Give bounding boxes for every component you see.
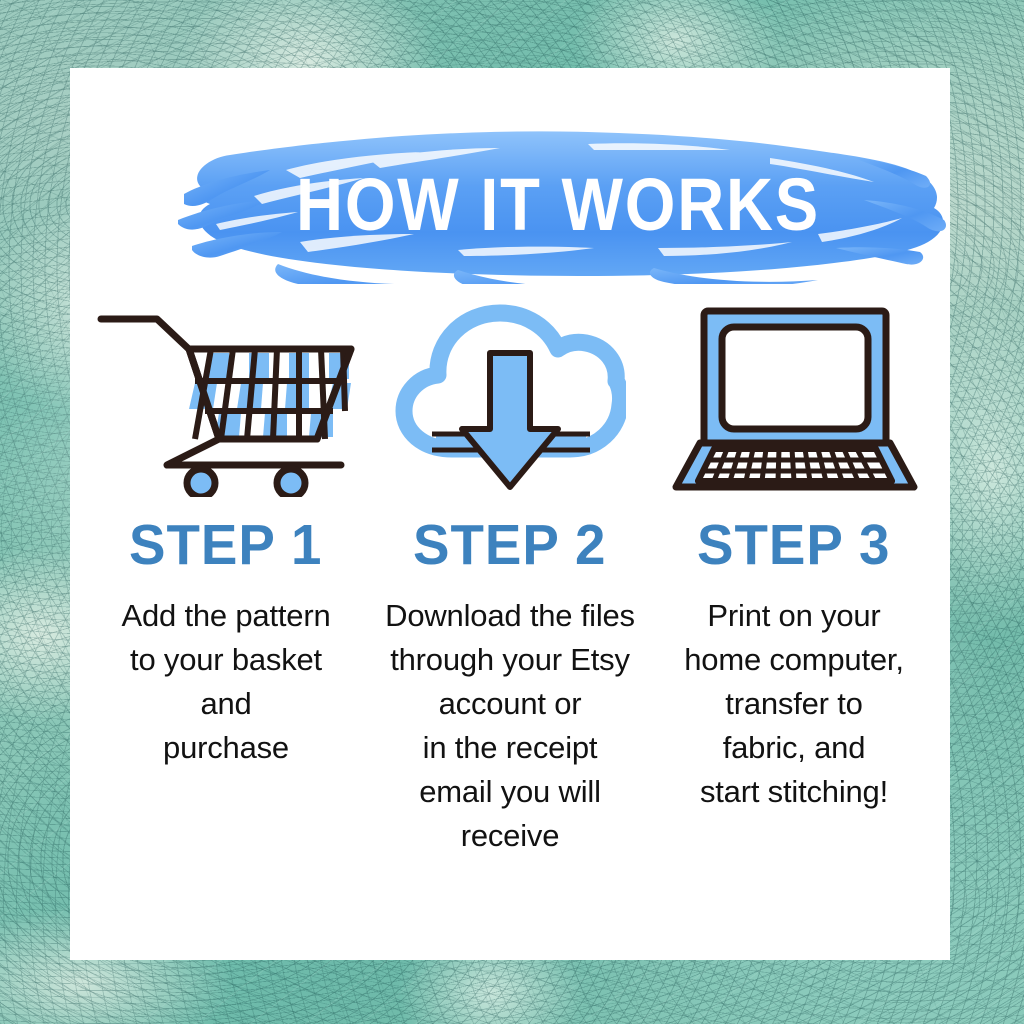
- step-1-body: Add the pattern to your basket and purch…: [122, 594, 331, 770]
- page-title: HOW IT WORKS: [206, 124, 910, 284]
- step-column-3: STEP 3 Print on your home computer, tran…: [652, 296, 936, 814]
- step-2-label: STEP 2: [413, 517, 606, 574]
- step-column-2: STEP 2 Download the files through your E…: [368, 296, 652, 858]
- step-1-label: STEP 1: [129, 517, 322, 574]
- step-2-body: Download the files through your Etsy acc…: [385, 594, 635, 858]
- laptop-icon: [670, 301, 918, 497]
- shopping-cart-icon: [95, 301, 357, 497]
- info-card: HOW IT WORKS: [70, 68, 950, 960]
- step-3-label: STEP 3: [697, 517, 890, 574]
- step-3-body: Print on your home computer, transfer to…: [684, 594, 903, 814]
- step-column-1: STEP 1 Add the pattern to your basket an…: [84, 296, 368, 770]
- step-1-icon-wrap: [95, 296, 357, 501]
- steps-row: STEP 1 Add the pattern to your basket an…: [84, 296, 936, 858]
- graphic-canvas: HOW IT WORKS: [0, 0, 1024, 1024]
- cloud-download-icon: [394, 301, 626, 497]
- step-3-icon-wrap: [670, 296, 918, 501]
- title-banner: HOW IT WORKS: [158, 124, 958, 284]
- step-2-icon-wrap: [394, 296, 626, 501]
